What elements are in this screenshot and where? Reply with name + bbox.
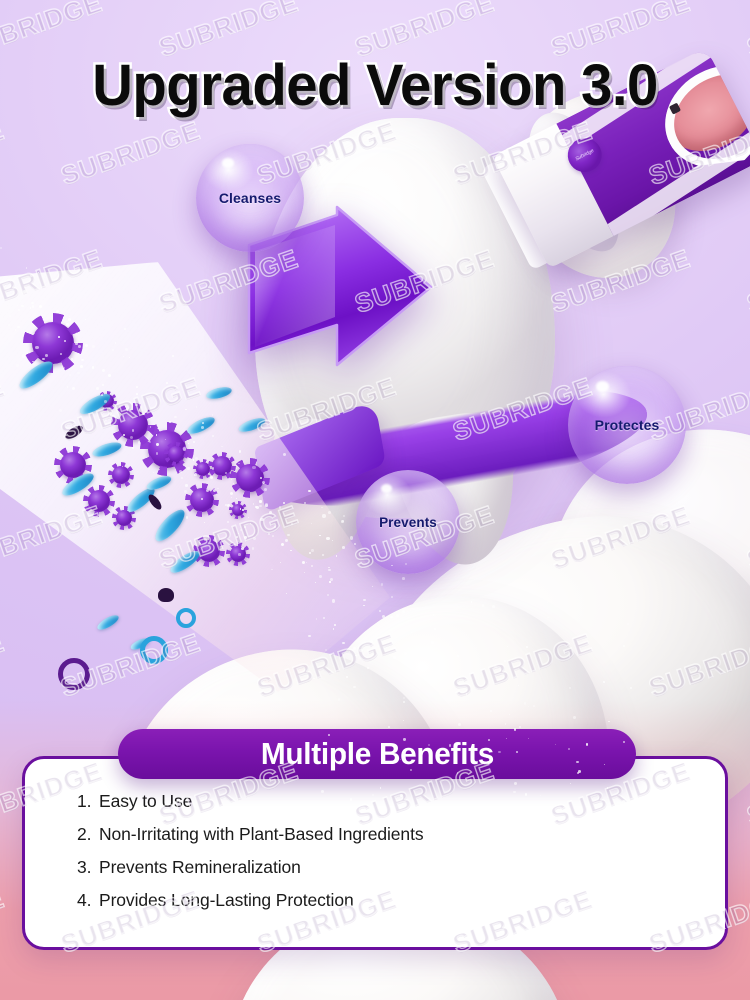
list-item-text: Provides Long-Lasting Protection xyxy=(99,890,354,910)
product-seal-text: Subridge xyxy=(575,148,596,162)
bubble-protectes-label: Protectes xyxy=(595,417,660,433)
page-title: Upgraded Version 3.0 xyxy=(11,52,739,119)
list-item-number: 4. xyxy=(77,890,94,910)
bubble-prevents-label: Prevents xyxy=(379,515,437,530)
benefits-card: 1. Easy to Use 2. Non-Irritating with Pl… xyxy=(22,756,728,950)
bubble-cleanses-label: Cleanses xyxy=(219,190,281,206)
list-item: 4. Provides Long-Lasting Protection xyxy=(77,890,695,910)
list-item-text: Easy to Use xyxy=(99,791,192,811)
poster-canvas: Cleanses Protectes Prevents REPAIRING CA… xyxy=(0,0,750,1000)
benefits-banner-title: Multiple Benefits xyxy=(260,736,493,772)
list-item: 3. Prevents Remineralization xyxy=(77,857,695,877)
list-item-number: 2. xyxy=(77,824,94,844)
bubble-protectes[interactable]: Protectes xyxy=(568,366,686,484)
list-item-text: Non-Irritating with Plant-Based Ingredie… xyxy=(99,824,423,844)
list-item-number: 3. xyxy=(77,857,94,877)
benefits-list: 1. Easy to Use 2. Non-Irritating with Pl… xyxy=(77,791,695,924)
list-item: 2. Non-Irritating with Plant-Based Ingre… xyxy=(77,824,695,844)
bubble-prevents[interactable]: Prevents xyxy=(356,470,460,574)
bubble-cleanses[interactable]: Cleanses xyxy=(196,144,304,252)
list-item-text: Prevents Remineralization xyxy=(99,857,301,877)
list-item: 1. Easy to Use xyxy=(77,791,695,811)
benefits-banner: Multiple Benefits xyxy=(118,729,636,779)
list-item-number: 1. xyxy=(77,791,94,811)
